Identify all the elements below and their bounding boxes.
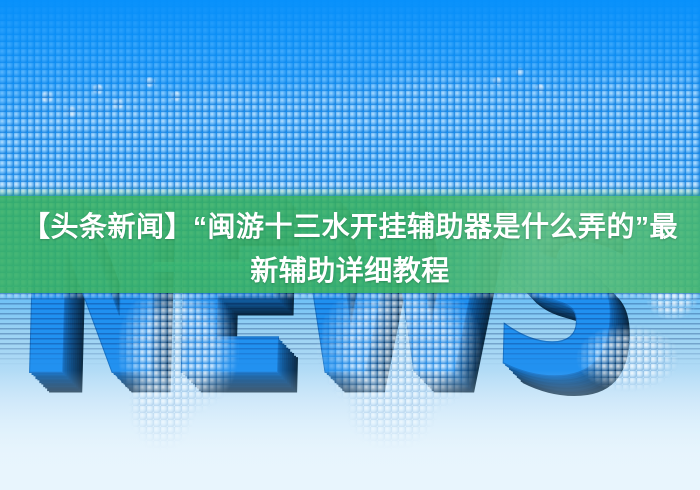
page-title: 【头条新闻】“闽游十三水开挂辅助器是什么弄的”最新辅助详细教程 — [0, 205, 700, 293]
news-banner-image: NEWS 【头条新闻】“闽游十三水开挂辅助器是什么弄的”最新辅助详细教程 — [0, 0, 700, 490]
